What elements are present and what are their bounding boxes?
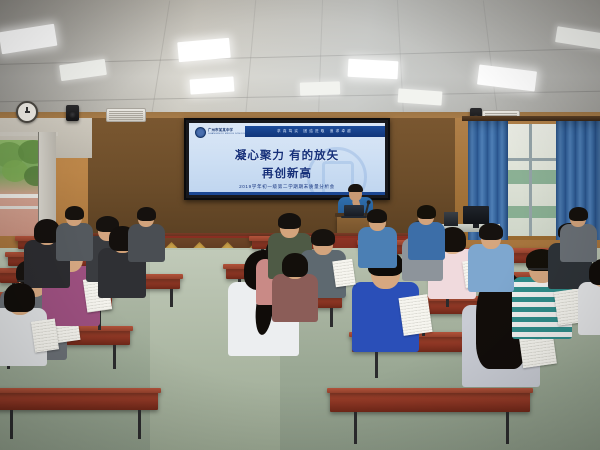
desk-front-left-top [0,388,161,393]
attendee-teal-far [408,204,445,260]
wall-clock-icon [16,101,38,123]
school-logo-subtext: GUANGZHOU MIDDLE SCHOOL [208,133,246,135]
computer-tower [444,212,458,226]
handout-paper [31,318,59,352]
person-torso [128,224,165,262]
attendee-lightblue-shirt [468,222,514,292]
ceiling-light [190,76,235,94]
screen-banner: 求真笃实 团结进取 追求卓越 [245,126,385,137]
screen-banner-text: 求真笃实 团结进取 追求卓越 [277,129,353,134]
classroom-photo: 广州市某某中学 GUANGZHOU MIDDLE SCHOOL 求真笃实 团结进… [0,0,600,450]
person-torso [408,222,445,260]
slide-title-line2: 再创新高 [189,165,385,181]
ceiling-light [348,59,399,80]
school-logo-text: 广州市某某中学 [208,128,233,132]
desk-front-left [0,392,158,410]
desk-leg [375,352,378,378]
person-hair [65,206,84,220]
person-hair [367,209,387,223]
person-torso [560,224,597,262]
attendee-left-edge-white [0,282,47,366]
person-torso [468,244,514,292]
desk-front-right [330,392,530,412]
slide-title-line1: 凝心聚力 有的放矢 [189,147,385,163]
attendee-maroon-right [272,252,318,322]
person-hair [569,207,588,221]
ceiling-speaker-icon [66,105,79,121]
presenter-hair [348,184,363,192]
person-torso [56,223,93,261]
curtain-rod [462,116,600,121]
ceiling-light [300,81,340,95]
desk-front-right-top [327,388,533,393]
person-hair [311,229,335,246]
person-torso [578,282,600,335]
person-hair [589,259,600,285]
attendee-row-far-right [560,206,597,262]
air-conditioner-vent [106,108,146,122]
desk-leg [354,412,357,444]
desk-leg [506,412,509,444]
attendee-blue-shirt-far [358,208,397,268]
attendee-far-mid-left [128,206,165,262]
person-hair [4,283,35,312]
attendee-right-edge-white [578,258,600,335]
handout-paper [398,294,432,336]
window [505,124,561,236]
person-hair [278,213,301,229]
person-hair [282,253,308,277]
school-logo: 广州市某某中学 GUANGZHOU MIDDLE SCHOOL [195,127,246,138]
person-hair [417,205,436,219]
desk-leg [330,308,333,327]
person-hair [479,223,503,240]
desk-leg [170,289,173,307]
desk-leg [10,410,13,439]
handout-paper [332,259,355,288]
attendee-far-left-mid [56,205,93,261]
school-emblem-icon [195,127,206,138]
person-hair [137,207,156,221]
desk-leg [113,345,116,369]
person-torso [272,274,318,322]
person-torso [358,227,397,268]
desk-leg [138,410,141,439]
ceiling-light [398,88,443,105]
